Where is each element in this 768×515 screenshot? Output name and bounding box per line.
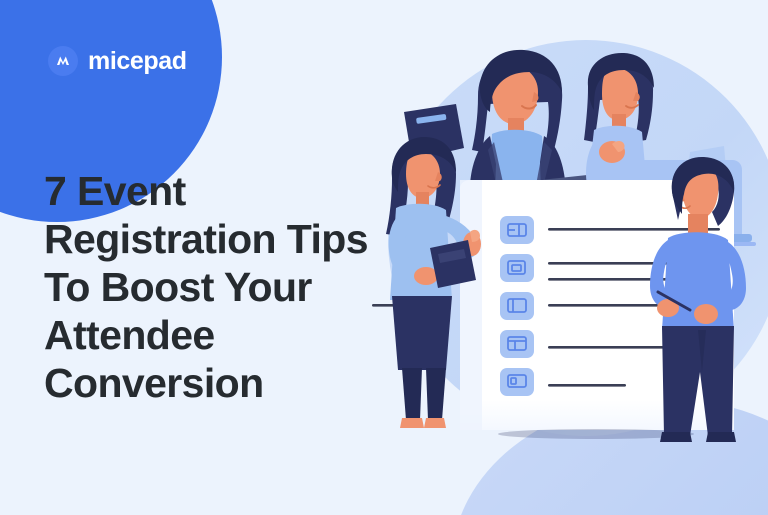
- brand-name: micepad: [88, 49, 187, 74]
- event-registration-illustration: [372, 0, 768, 515]
- micepad-m-mark-icon: [48, 46, 78, 76]
- page-title: 7 Event Registration Tips To Boost Your …: [44, 168, 374, 408]
- clipboard: [430, 240, 476, 288]
- cover-canvas: micepad 7 Event Registration Tips To Boo…: [0, 0, 768, 515]
- brand-logo[interactable]: micepad: [48, 46, 187, 76]
